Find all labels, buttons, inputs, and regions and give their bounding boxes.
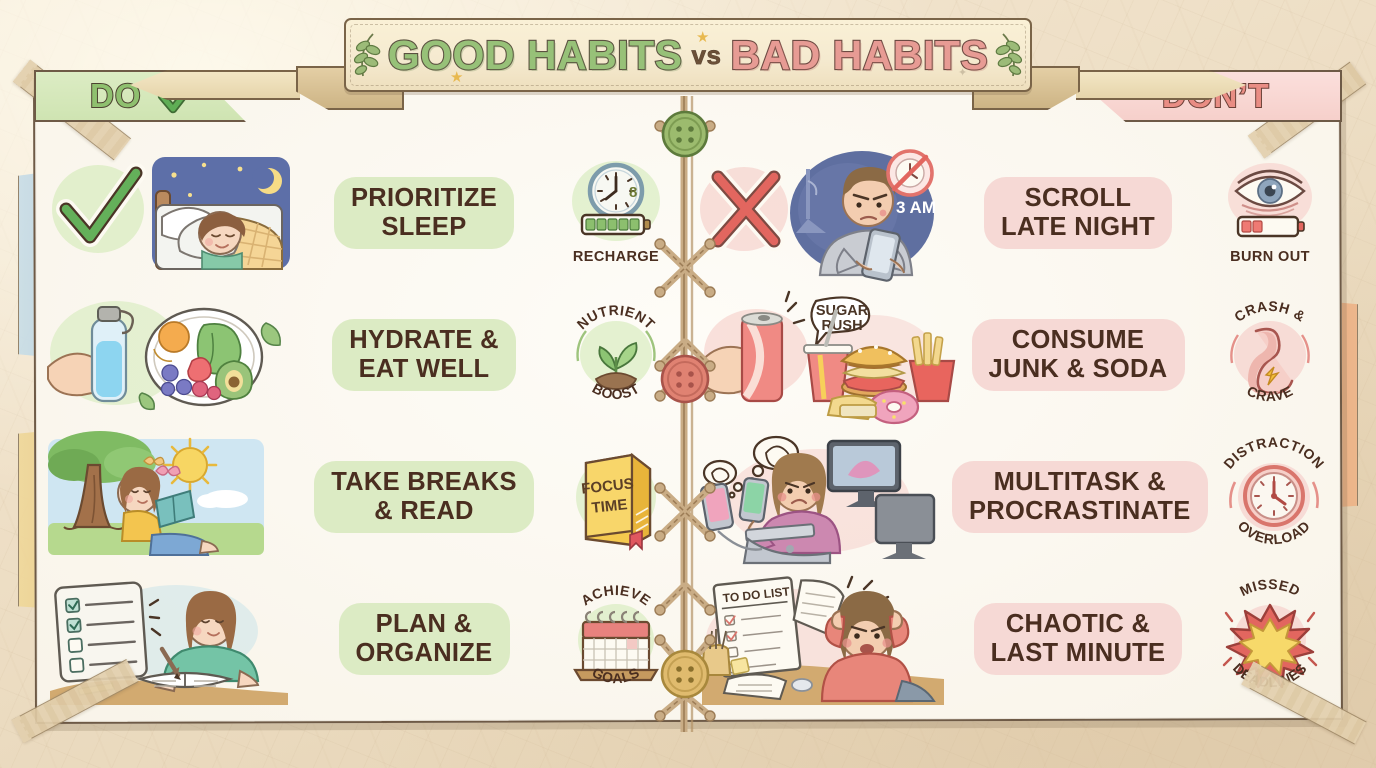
good-label-breaks: TAKE BREAKS & READ bbox=[314, 461, 534, 532]
label-line-2: LATE NIGHT bbox=[1001, 213, 1155, 242]
star-decoration-3: ✦ bbox=[958, 66, 967, 79]
good-row-breaks[interactable]: TAKE BREAKS & READ FOCUS TIME bbox=[44, 426, 678, 568]
bad-row-chaotic[interactable]: TO DO LIST bbox=[698, 568, 1332, 710]
good-row-sleep[interactable]: PRIORITIZE SLEEP bbox=[44, 142, 678, 284]
green-button bbox=[663, 112, 707, 156]
svg-text:MISSED: MISSED bbox=[1237, 576, 1303, 599]
label-line-1: HYDRATE & bbox=[349, 326, 499, 355]
label-line-1: MULTITASK & bbox=[969, 468, 1191, 497]
badge-caption-burn-out: BURN OUT bbox=[1230, 249, 1310, 265]
stitched-button-divider bbox=[640, 96, 736, 732]
bad-label-cell-chaotic: CHAOTIC & LAST MINUTE bbox=[948, 603, 1208, 674]
good-label-plan: PLAN & ORGANIZE bbox=[339, 603, 510, 674]
title-bad-habits: BAD HABITS bbox=[730, 35, 988, 76]
badge-burn-out: BURN OUT bbox=[1208, 161, 1332, 265]
bad-label-cell-junk: CONSUME JUNK & SODA bbox=[948, 319, 1208, 390]
bad-habits-column: 3 AM SCROLL LATE NIGHT bbox=[688, 120, 1342, 720]
label-line-2: LAST MINUTE bbox=[991, 639, 1166, 668]
label-line-2: PROCRASTINATE bbox=[969, 497, 1191, 526]
bad-label-cell-multitask: MULTITASK & PROCRASTINATE bbox=[948, 461, 1212, 532]
good-row-plan[interactable]: PLAN & ORGANIZE bbox=[44, 568, 678, 710]
star-decoration-2: ★ bbox=[696, 28, 709, 46]
title-banner-body: GOOD HABITS vs BAD HABITS ★ ★ ✦ bbox=[344, 18, 1032, 92]
speech-bubble-line-2: RUSH bbox=[821, 318, 862, 334]
leaf-sprig-icon-right bbox=[997, 32, 1023, 78]
label-line-2: EAT WELL bbox=[349, 355, 499, 384]
good-label-cell-plan: PLAN & ORGANIZE bbox=[294, 603, 554, 674]
bad-row-scroll[interactable]: 3 AM SCROLL LATE NIGHT bbox=[698, 142, 1332, 284]
good-label-sleep: PRIORITIZE SLEEP bbox=[334, 177, 514, 248]
badge-crash-crave: CRASH & CRAVE bbox=[1208, 297, 1332, 413]
badge-arc-top: MISSED bbox=[1237, 576, 1303, 599]
tired-eye-low-battery-badge bbox=[1216, 161, 1324, 247]
label-line-2: ORGANIZE bbox=[356, 639, 493, 668]
badge-arc-top: CRASH & bbox=[1231, 298, 1309, 325]
label-line-1: SCROLL bbox=[1001, 184, 1155, 213]
good-row-hydrate[interactable]: HYDRATE & EAT WELL bbox=[44, 284, 678, 426]
good-label-cell-breaks: TAKE BREAKS & READ bbox=[294, 461, 554, 532]
alarm-clock-badge: DISTRACTION OVERLOAD bbox=[1213, 436, 1335, 558]
svg-text:CRASH &: CRASH & bbox=[1231, 298, 1309, 325]
water-bottle-healthy-plate-illustration bbox=[44, 289, 294, 421]
speech-bubble-line-1: SUGAR bbox=[816, 303, 869, 319]
tan-button bbox=[662, 651, 708, 697]
good-label-cell-hydrate: HYDRATE & EAT WELL bbox=[294, 319, 554, 390]
label-line-1: PRIORITIZE bbox=[351, 184, 497, 213]
good-label-hydrate: HYDRATE & EAT WELL bbox=[332, 319, 516, 390]
bad-label-scroll: SCROLL LATE NIGHT bbox=[984, 177, 1172, 248]
stomach-badge: CRASH & CRAVE bbox=[1212, 297, 1328, 413]
label-line-2: SLEEP bbox=[351, 213, 497, 242]
star-decoration-1: ★ bbox=[450, 68, 463, 86]
girl-reading-under-tree-illustration bbox=[44, 431, 294, 563]
leaf-sprig-icon-left bbox=[353, 32, 379, 78]
red-button bbox=[662, 356, 708, 402]
label-line-2: JUNK & SODA bbox=[989, 355, 1168, 384]
label-line-1: CHAOTIC & bbox=[991, 610, 1166, 639]
badge-distraction-overload: DISTRACTION OVERLOAD bbox=[1212, 436, 1336, 558]
bad-row-junk[interactable]: SUGAR RUSH bbox=[698, 284, 1332, 426]
title-banner: GOOD HABITS vs BAD HABITS ★ ★ ✦ bbox=[294, 14, 1082, 110]
label-line-1: CONSUME bbox=[989, 326, 1168, 355]
good-label-cell-sleep: PRIORITIZE SLEEP bbox=[294, 177, 554, 248]
bad-label-multitask: MULTITASK & PROCRASTINATE bbox=[952, 461, 1208, 532]
bad-label-junk: CONSUME JUNK & SODA bbox=[972, 319, 1185, 390]
art-annotation-3am: 3 AM bbox=[896, 198, 936, 217]
clock-number: 8 bbox=[629, 184, 637, 201]
good-habits-column: PRIORITIZE SLEEP bbox=[34, 120, 688, 720]
label-line-1: TAKE BREAKS bbox=[331, 468, 517, 497]
bad-row-multitask[interactable]: MULTITASK & PROCRASTINATE bbox=[698, 426, 1332, 568]
title-good-habits: GOOD HABITS bbox=[388, 35, 683, 76]
bad-label-chaotic: CHAOTIC & LAST MINUTE bbox=[974, 603, 1183, 674]
bad-label-cell-scroll: SCROLL LATE NIGHT bbox=[948, 177, 1208, 248]
label-line-2: & READ bbox=[331, 497, 517, 526]
sleeping-girl-illustration bbox=[44, 147, 294, 279]
label-line-1: PLAN & bbox=[356, 610, 493, 639]
do-ribbon-label: DO bbox=[90, 77, 142, 115]
